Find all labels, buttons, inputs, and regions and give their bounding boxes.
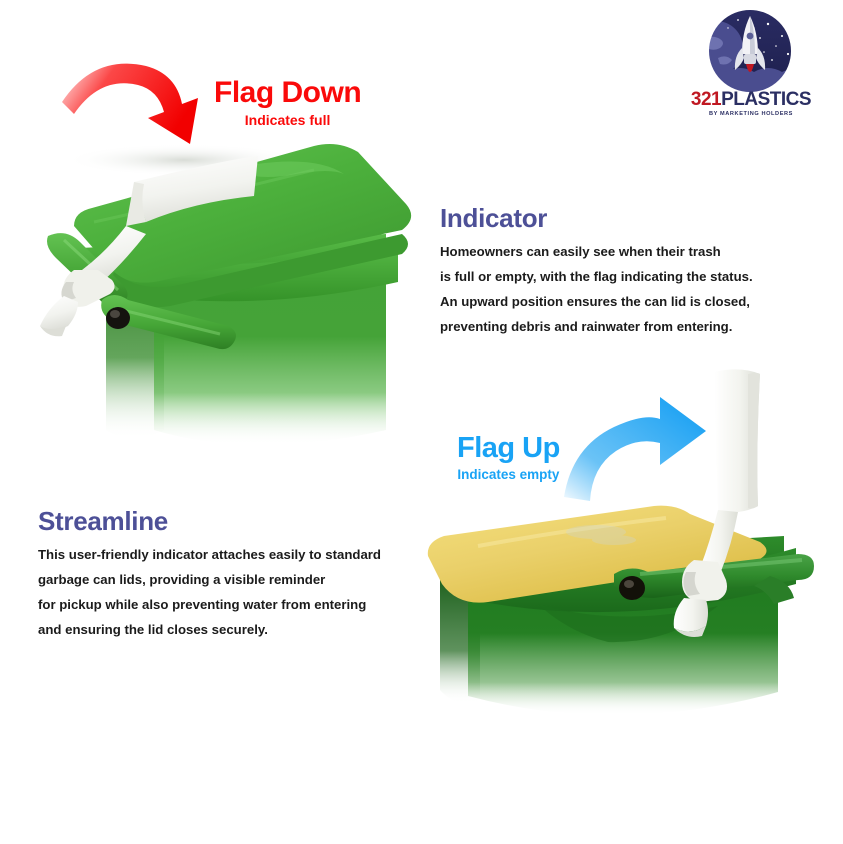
section-indicator: Indicator Homeowners can easily see when… <box>440 203 830 339</box>
streamline-heading: Streamline <box>38 506 438 537</box>
green-trash-can-yellow-lid-flag-up <box>418 360 838 780</box>
indicator-line-3: An upward position ensures the can lid i… <box>440 289 830 314</box>
logo-321: 321 <box>691 89 721 110</box>
streamline-line-4: and ensuring the lid closes securely. <box>38 617 438 642</box>
indicator-line-1: Homeowners can easily see when their tra… <box>440 239 830 264</box>
indicator-line-2: is full or empty, with the flag indicati… <box>440 264 830 289</box>
streamline-line-3: for pickup while also preventing water f… <box>38 592 438 617</box>
brand-logo: 321PLASTICS BY MARKETING HOLDERS <box>690 8 812 120</box>
logo-tagline: BY MARKETING HOLDERS <box>690 110 812 118</box>
logo-plastics: PLASTICS <box>721 89 811 110</box>
rocket-globe-emblem <box>698 8 802 94</box>
streamline-body: This user-friendly indicator attaches ea… <box>38 542 438 642</box>
streamline-line-2: garbage can lids, providing a visible re… <box>38 567 438 592</box>
green-trash-can-flag-down <box>14 130 434 460</box>
logo-wordmark: 321PLASTICS BY MARKETING HOLDERS <box>690 90 812 118</box>
streamline-line-1: This user-friendly indicator attaches ea… <box>38 542 438 567</box>
flag-down-callout: Flag Down Indicates full <box>214 76 361 130</box>
infographic-canvas: 321PLASTICS BY MARKETING HOLDERS Flag Do… <box>0 0 843 844</box>
indicator-line-4: preventing debris and rainwater from ent… <box>440 314 830 339</box>
indicator-heading: Indicator <box>440 203 830 234</box>
flag-down-subtitle: Indicates full <box>214 110 361 130</box>
flag-down-title: Flag Down <box>214 76 361 110</box>
section-streamline: Streamline This user-friendly indicator … <box>38 506 438 642</box>
indicator-body: Homeowners can easily see when their tra… <box>440 239 830 339</box>
